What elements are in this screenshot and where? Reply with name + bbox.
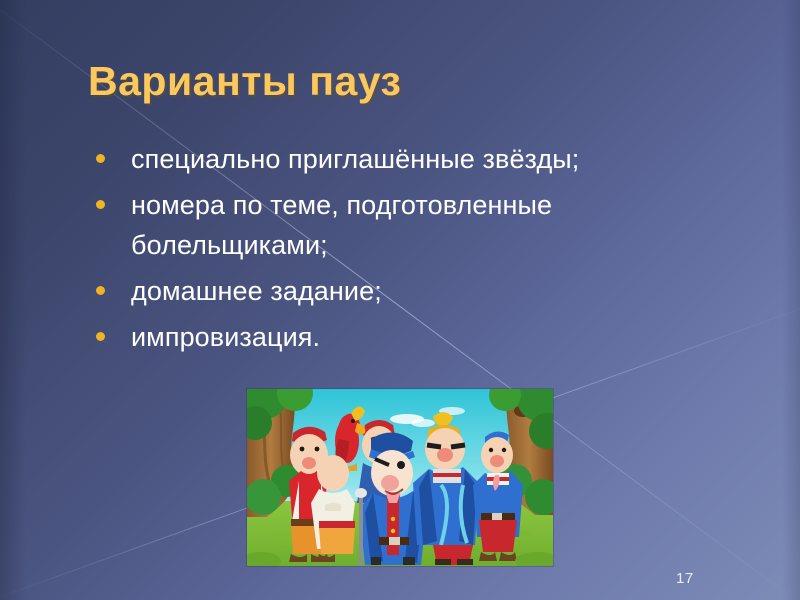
slide-number: 17: [676, 570, 694, 588]
list-item: импровизация.: [96, 317, 736, 357]
bullet-item-text: номера по теме, подготовленные болельщик…: [131, 185, 736, 265]
bullet-list: специально приглашённые звёзды; номера п…: [96, 139, 736, 363]
bullet-dot-icon: [96, 332, 105, 341]
list-item: домашнее задание;: [96, 271, 736, 311]
bullet-dot-icon: [96, 286, 105, 295]
bullet-item-text: специально приглашённые звёзды;: [131, 139, 736, 179]
bullet-item-text: домашнее задание;: [131, 271, 736, 311]
bullet-dot-icon: [96, 200, 105, 209]
bullet-dot-icon: [96, 154, 105, 163]
illustration-frame: [247, 389, 553, 566]
bullet-item-text: импровизация.: [131, 317, 736, 357]
left-edge-shading: [0, 0, 26, 600]
slide-title: Варианты пауз: [88, 57, 401, 105]
list-item: специально приглашённые звёзды;: [96, 139, 736, 179]
presentation-slide: Варианты пауз специально приглашённые зв…: [0, 0, 800, 600]
cartoon-pirates-illustration: [247, 389, 553, 566]
list-item: номера по теме, подготовленные болельщик…: [96, 185, 736, 265]
right-edge-shading: [782, 0, 800, 600]
